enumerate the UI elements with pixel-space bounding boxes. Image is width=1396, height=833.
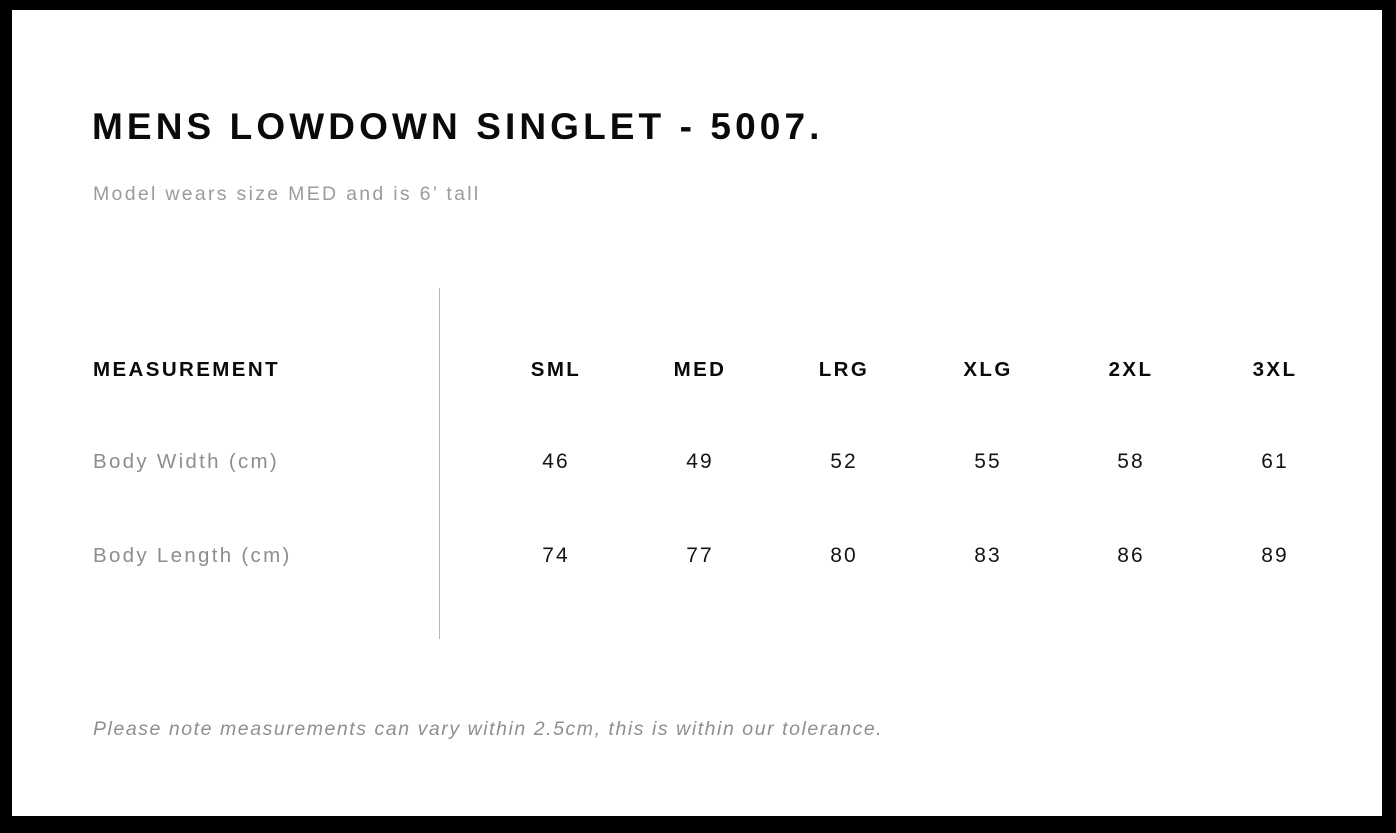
cell-body-width-3xl: 61	[1215, 442, 1335, 482]
cell-body-width-sml: 46	[496, 442, 616, 482]
column-header-sml: SML	[496, 350, 616, 390]
size-chart-sheet: MENS LOWDOWN SINGLET - 5007. Model wears…	[12, 10, 1382, 816]
table-row: Body Length (cm) 74 77 80 83 86 89	[12, 536, 1382, 576]
cell-body-length-lrg: 80	[784, 536, 904, 576]
row-label-body-width: Body Width (cm)	[93, 442, 279, 482]
cell-body-width-2xl: 58	[1071, 442, 1191, 482]
cell-body-length-xlg: 83	[928, 536, 1048, 576]
table-row: Body Width (cm) 46 49 52 55 58 61	[12, 442, 1382, 482]
tolerance-note: Please note measurements can vary within…	[93, 717, 883, 742]
row-label-body-length: Body Length (cm)	[93, 536, 292, 576]
cell-body-length-sml: 74	[496, 536, 616, 576]
size-table: MEASUREMENT SML MED LRG XLG 2XL 3XL Body…	[12, 10, 1382, 816]
column-header-measurement: MEASUREMENT	[93, 350, 280, 390]
cell-body-length-2xl: 86	[1071, 536, 1191, 576]
cell-body-width-xlg: 55	[928, 442, 1048, 482]
column-header-2xl: 2XL	[1071, 350, 1191, 390]
cell-body-width-med: 49	[640, 442, 760, 482]
table-header-row: MEASUREMENT SML MED LRG XLG 2XL 3XL	[12, 350, 1382, 390]
cell-body-length-med: 77	[640, 536, 760, 576]
column-header-lrg: LRG	[784, 350, 904, 390]
column-header-med: MED	[640, 350, 760, 390]
page-frame: MENS LOWDOWN SINGLET - 5007. Model wears…	[0, 0, 1396, 833]
cell-body-width-lrg: 52	[784, 442, 904, 482]
column-header-3xl: 3XL	[1215, 350, 1335, 390]
cell-body-length-3xl: 89	[1215, 536, 1335, 576]
column-header-xlg: XLG	[928, 350, 1048, 390]
